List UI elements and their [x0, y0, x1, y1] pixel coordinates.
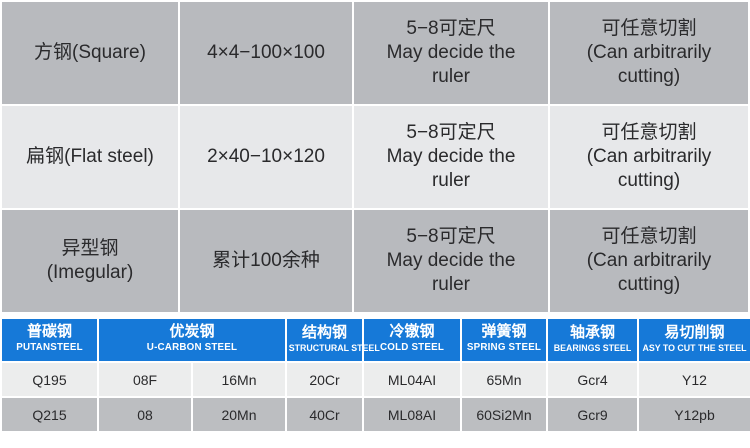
spec-cell-type: 方钢(Square): [2, 2, 178, 104]
grade-cell: 40Cr: [287, 398, 362, 431]
spec-length-en-1: May decide the: [356, 145, 546, 169]
grade-header-cn: 轴承钢: [549, 325, 636, 342]
grade-header-cn: 弹簧钢: [463, 324, 545, 341]
spec-cell-length: 5−8可定尺 May decide the ruler: [354, 2, 548, 104]
grade-table: 普碳钢 PUTANSTEEL 优炭钢 U-CARBON STEEL 结构钢 ST…: [0, 317, 750, 433]
spec-length-en-2: ruler: [356, 169, 546, 193]
grade-header-structural: 结构钢 STRUCTURAL STEEL: [287, 319, 362, 361]
spec-cell-size: 2×40−10×120: [180, 106, 352, 208]
grade-cell: ML04AI: [364, 363, 460, 396]
grade-header-en: ASY TO CUT THE STEEL: [641, 343, 748, 354]
grade-cell: Y12: [639, 363, 750, 396]
spec-cell-cutting: 可任意切割 (Can arbitrarily cutting): [550, 2, 748, 104]
spec-cut-en-1: (Can arbitrarily: [552, 41, 746, 65]
spec-cell-length: 5−8可定尺 May decide the ruler: [354, 106, 548, 208]
spec-length-cn: 5−8可定尺: [356, 17, 546, 41]
grade-header-cn: 优炭钢: [100, 324, 284, 341]
spec-length-cn: 5−8可定尺: [356, 225, 546, 249]
grade-header-row: 普碳钢 PUTANSTEEL 优炭钢 U-CARBON STEEL 结构钢 ST…: [2, 319, 750, 361]
grade-cell: 60Si2Mn: [462, 398, 546, 431]
grade-header-en: SPRING STEEL: [464, 342, 544, 355]
spec-length-en-1: May decide the: [356, 249, 546, 273]
spec-cell-size: 4×4−100×100: [180, 2, 352, 104]
grade-header-easycut: 易切削钢 ASY TO CUT THE STEEL: [639, 319, 750, 361]
grade-header-bearings: 轴承钢 BEARINGS STEEL: [548, 319, 637, 361]
spec-type-line-2: (Imegular): [4, 261, 176, 285]
spec-length-en-2: ruler: [356, 273, 546, 297]
grade-header-cold: 冷镦钢 COLD STEEL: [364, 319, 460, 361]
grade-cell: Q195: [2, 363, 97, 396]
grade-header-cn: 冷镦钢: [365, 324, 459, 341]
grade-header-ucarbon: 优炭钢 U-CARBON STEEL: [99, 319, 285, 361]
grade-header-en: U-CARBON STEEL: [102, 342, 282, 355]
spec-cell-type: 异型钢 (Imegular): [2, 210, 178, 312]
spec-cell-size: 累计100余种: [180, 210, 352, 312]
spec-cell-type: 扁钢(Flat steel): [2, 106, 178, 208]
table-row: 异型钢 (Imegular) 累计100余种 5−8可定尺 May decide…: [2, 210, 748, 312]
grade-cell: 20Mn: [193, 398, 285, 431]
grade-header-en: STRUCTURAL STEEL: [289, 343, 361, 354]
grade-cell: 65Mn: [462, 363, 546, 396]
grade-cell: 20Cr: [287, 363, 362, 396]
spec-cut-cn: 可任意切割: [552, 17, 746, 41]
grade-cell: 08: [99, 398, 191, 431]
table-row: Q195 08F 16Mn 20Cr ML04AI 65Mn Gcr4 Y12: [2, 363, 750, 396]
spec-type-line-1: 异型钢: [4, 237, 176, 261]
spec-cut-en-1: (Can arbitrarily: [552, 145, 746, 169]
spec-cut-en-1: (Can arbitrarily: [552, 249, 746, 273]
grade-cell: Gcr4: [548, 363, 637, 396]
grade-header-cn: 普碳钢: [3, 324, 96, 341]
grade-header-en: PUTANSTEEL: [4, 342, 95, 355]
spec-cell-length: 5−8可定尺 May decide the ruler: [354, 210, 548, 312]
spec-cut-en-2: cutting): [552, 273, 746, 297]
table-row: 方钢(Square) 4×4−100×100 5−8可定尺 May decide…: [2, 2, 748, 104]
spec-table: 方钢(Square) 4×4−100×100 5−8可定尺 May decide…: [0, 0, 750, 314]
grade-header-cn: 结构钢: [288, 325, 361, 342]
grade-header-spring: 弹簧钢 SPRING STEEL: [462, 319, 546, 361]
grade-cell: 16Mn: [193, 363, 285, 396]
spec-length-en-1: May decide the: [356, 41, 546, 65]
grade-cell: Gcr9: [548, 398, 637, 431]
spec-length-cn: 5−8可定尺: [356, 121, 546, 145]
spec-cell-cutting: 可任意切割 (Can arbitrarily cutting): [550, 106, 748, 208]
grade-cell: Q215: [2, 398, 97, 431]
table-row: 扁钢(Flat steel) 2×40−10×120 5−8可定尺 May de…: [2, 106, 748, 208]
spec-cut-en-2: cutting): [552, 169, 746, 193]
grade-cell: ML08AI: [364, 398, 460, 431]
grade-header-cn: 易切削钢: [640, 325, 749, 342]
table-row: Q215 08 20Mn 40Cr ML08AI 60Si2Mn Gcr9 Y1…: [2, 398, 750, 431]
spec-cut-cn: 可任意切割: [552, 121, 746, 145]
spec-length-en-2: ruler: [356, 65, 546, 89]
grade-header-en: COLD STEEL: [366, 342, 458, 355]
grade-cell: 08F: [99, 363, 191, 396]
grade-header-putan: 普碳钢 PUTANSTEEL: [2, 319, 97, 361]
spec-cut-en-2: cutting): [552, 65, 746, 89]
spec-cell-cutting: 可任意切割 (Can arbitrarily cutting): [550, 210, 748, 312]
spec-cut-cn: 可任意切割: [552, 225, 746, 249]
grade-header-en: BEARINGS STEEL: [550, 343, 635, 354]
steel-spec-sheet: 方钢(Square) 4×4−100×100 5−8可定尺 May decide…: [0, 0, 750, 448]
grade-cell: Y12pb: [639, 398, 750, 431]
